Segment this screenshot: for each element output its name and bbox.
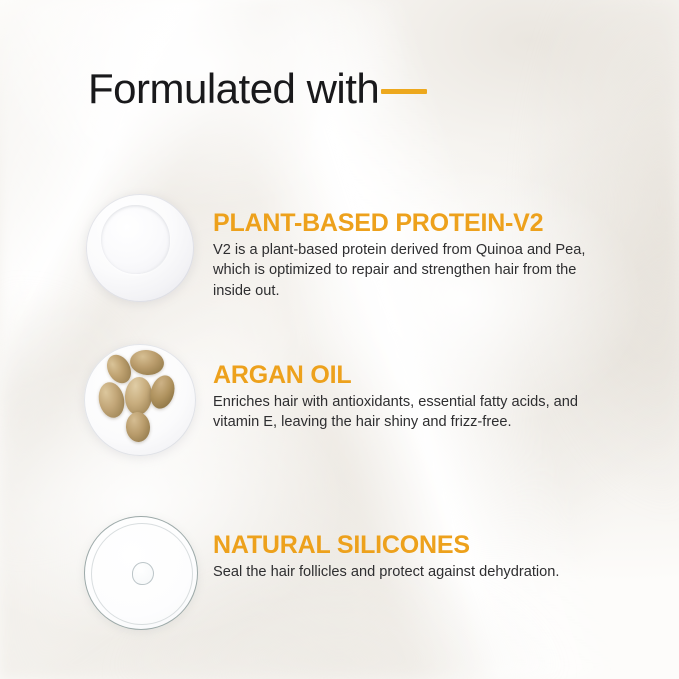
argan-nut-icon — [125, 411, 151, 443]
argan-nut-icon — [147, 372, 178, 411]
silicone-droplet-icon — [132, 562, 154, 585]
petri-dish-shape — [86, 194, 194, 302]
silicone-droplet-petri-dish-image — [78, 512, 203, 637]
dish-inner-rim — [105, 209, 170, 274]
argan-nut-icon — [129, 348, 165, 376]
ingredient-copy: NATURAL SILICONES Seal the hair follicle… — [213, 512, 633, 582]
product-feature-page: Formulated with PLANT-BASED PROTEIN-V2 V… — [0, 0, 679, 679]
ingredient-copy: ARGAN OIL Enriches hair with antioxidant… — [213, 340, 633, 433]
ingredient-description: V2 is a plant-based protein derived from… — [213, 240, 593, 300]
ingredient-title: PLANT-BASED PROTEIN-V2 — [213, 210, 633, 236]
clear-gel-petri-dish-image — [78, 188, 203, 313]
ingredient-title: NATURAL SILICONES — [213, 532, 633, 558]
ingredient-title: ARGAN OIL — [213, 362, 633, 388]
ingredient-row: ARGAN OIL Enriches hair with antioxidant… — [0, 340, 679, 465]
ingredient-row: NATURAL SILICONES Seal the hair follicle… — [0, 512, 679, 637]
argan-nut-icon — [124, 376, 154, 416]
argan-nut-icon — [96, 380, 128, 420]
ingredient-row: PLANT-BASED PROTEIN-V2 V2 is a plant-bas… — [0, 188, 679, 313]
argan-nuts-petri-dish-image — [78, 340, 203, 465]
petri-dish-shape — [84, 516, 198, 630]
page-title-text: Formulated with — [88, 68, 379, 110]
dish-gleam-highlight — [112, 218, 136, 233]
ingredient-description: Enriches hair with antioxidants, essenti… — [213, 392, 593, 432]
page-title: Formulated with — [88, 68, 427, 110]
ingredient-description: Seal the hair follicles and protect agai… — [213, 562, 593, 582]
petri-dish-shape — [84, 344, 196, 456]
horizontal-dash-icon — [381, 89, 427, 94]
ingredient-copy: PLANT-BASED PROTEIN-V2 V2 is a plant-bas… — [213, 188, 633, 301]
